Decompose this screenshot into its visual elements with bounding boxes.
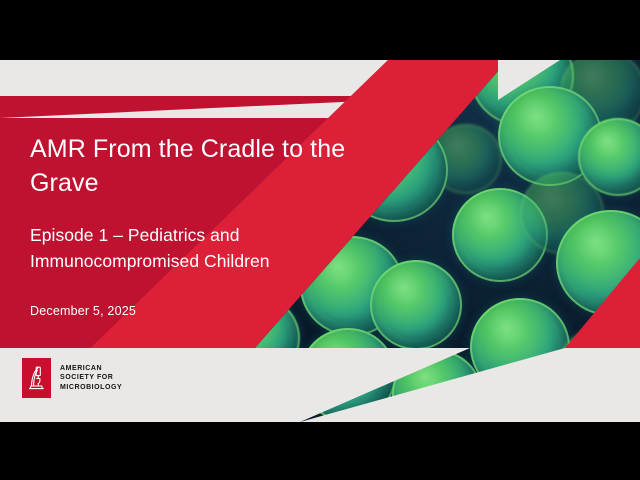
presentation-date: December 5, 2025 (30, 274, 360, 320)
microscope-icon (22, 358, 51, 398)
letterbox-bar-bottom (0, 422, 640, 480)
episode-subtitle: Episode 1 – Pediatrics and Immunocomprom… (30, 200, 360, 274)
asm-wordmark-line-1: American (60, 364, 122, 374)
asm-wordmark: American Society for Microbiology (60, 364, 122, 393)
page-title: AMR From the Cradle to the Grave (30, 132, 360, 200)
letterbox-bar-top (0, 0, 640, 60)
asm-wordmark-line-2: Society for (60, 373, 122, 383)
asm-logo: American Society for Microbiology (22, 358, 122, 398)
presentation-title-slide: AMR From the Cradle to the Grave Episode… (0, 60, 640, 422)
video-player-frame: AMR From the Cradle to the Grave Episode… (0, 0, 640, 480)
title-text-block: AMR From the Cradle to the Grave Episode… (30, 132, 360, 320)
asm-wordmark-line-3: Microbiology (60, 383, 122, 393)
